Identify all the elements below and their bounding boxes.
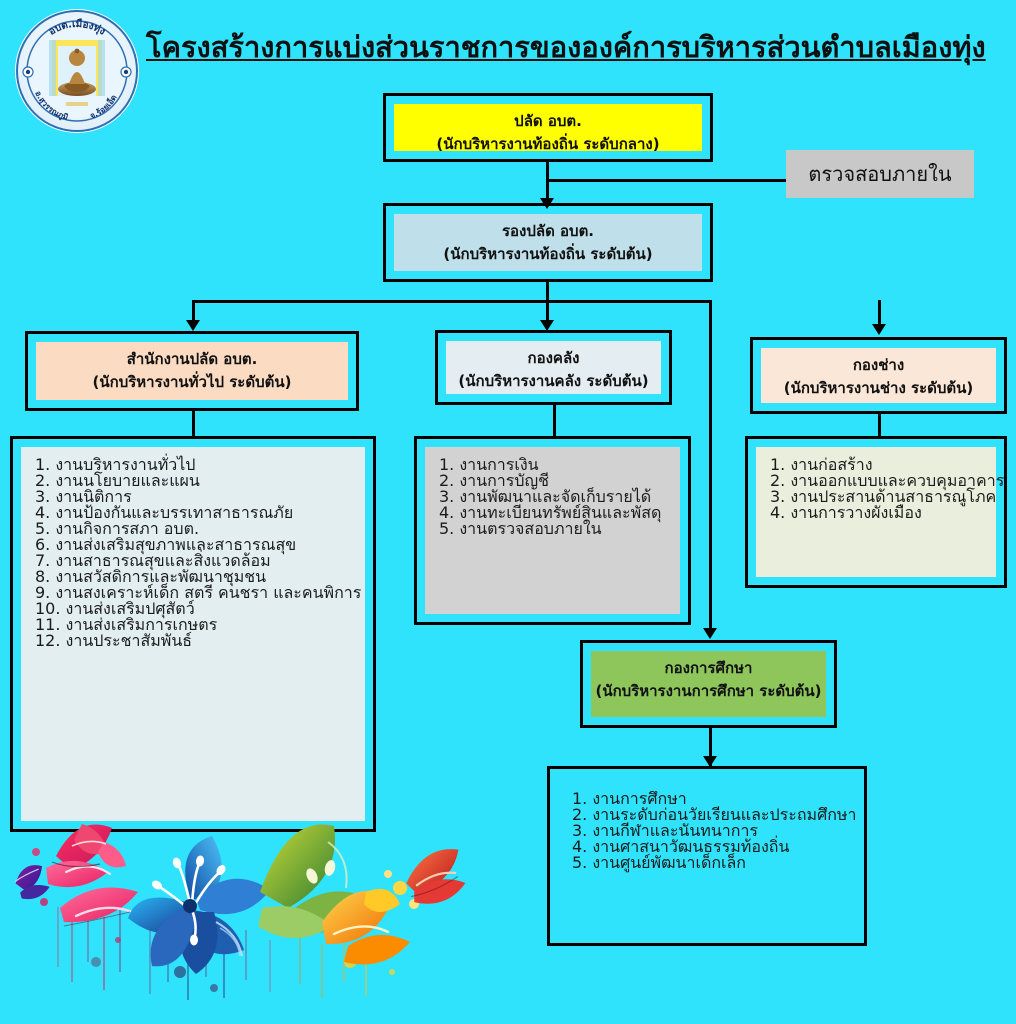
node-internal-audit-label: ตรวจสอบภายใน	[808, 158, 951, 190]
node-education-fill: กองการศึกษา (นักบริหารงานการศึกษา ระดับต…	[591, 651, 826, 717]
node-office-fill: สำนักงานปลัด อบต. (นักบริหารงานทั่วไป ระ…	[36, 342, 348, 400]
connector-bus	[192, 300, 712, 303]
arrow-bus-to-works	[872, 324, 886, 335]
list-office-inner: 1. งานบริหารงานทั่วไป 2. งานนโยบายและแผน…	[21, 447, 365, 821]
node-chief-title: ปลัด อบต.	[514, 110, 582, 133]
node-office-title: สำนักงานปลัด อบต.	[127, 348, 258, 371]
arrow-bus-to-education	[703, 628, 717, 639]
list-item: 12. งานประชาสัมพันธ์	[35, 633, 359, 649]
node-deputy-chief[interactable]: รองปลัด อบต. (นักบริหารงานท้องถิ่น ระดับ…	[383, 203, 713, 282]
list-works-tasks: 1. งานก่อสร้าง 2. งานออกแบบและควบคุมอาคา…	[745, 436, 1007, 588]
node-education-title: กองการศึกษา	[665, 657, 753, 680]
connector-office-to-list	[192, 410, 195, 438]
list-education-inner: 1. งานการศึกษา 2. งานระดับก่อนวัยเรียนแล…	[558, 777, 856, 935]
list-item: 5. งานตรวจสอบภายใน	[439, 521, 674, 537]
list-treasury-inner: 1. งานการเงิน 2. งานการบัญชี 3. งานพัฒนา…	[425, 447, 680, 614]
list-item: 5. งานศูนย์พัฒนาเด็กเล็ก	[572, 855, 850, 871]
org-chart-canvas: อบต.เมืองทุ่ง อ.สุวรรณภูมิ จ.ร้อยเอ็ด โค…	[0, 0, 1016, 1024]
node-treasury-subtitle: (นักบริหารงานคลัง ระดับต้น)	[458, 370, 648, 393]
arrow-bus-to-office	[186, 320, 200, 331]
node-deputy-title: รองปลัด อบต.	[502, 220, 594, 243]
node-treasury-fill: กองคลัง (นักบริหารงานคลัง ระดับต้น)	[446, 341, 661, 394]
node-treasury-division[interactable]: กองคลัง (นักบริหารงานคลัง ระดับต้น)	[435, 330, 672, 405]
node-education-division[interactable]: กองการศึกษา (นักบริหารงานการศึกษา ระดับต…	[580, 640, 837, 728]
list-item: 4. งานการวางผังเมือง	[770, 505, 990, 521]
connector-chief-to-audit	[546, 179, 786, 182]
node-public-works-division[interactable]: กองช่าง (นักบริหารงานช่าง ระดับต้น)	[750, 337, 1007, 414]
connector-bus-to-education	[709, 300, 712, 635]
node-education-subtitle: (นักบริหารงานการศึกษา ระดับต้น)	[595, 680, 821, 703]
node-deputy-fill: รองปลัด อบต. (นักบริหารงานท้องถิ่น ระดับ…	[394, 214, 702, 271]
node-chief-subtitle: (นักบริหารงานท้องถิ่น ระดับกลาง)	[436, 133, 659, 156]
node-office-of-clerk[interactable]: สำนักงานปลัด อบต. (นักบริหารงานทั่วไป ระ…	[25, 331, 359, 411]
node-internal-audit[interactable]: ตรวจสอบภายใน	[786, 150, 974, 198]
node-treasury-title: กองคลัง	[528, 347, 580, 370]
list-education-tasks: 1. งานการศึกษา 2. งานระดับก่อนวัยเรียนแล…	[547, 766, 867, 946]
page-title: โครงสร้างการแบ่งส่วนราชการขององค์การบริห…	[146, 24, 976, 70]
node-works-fill: กองช่าง (นักบริหารงานช่าง ระดับต้น)	[761, 348, 996, 403]
node-deputy-subtitle: (นักบริหารงานท้องถิ่น ระดับต้น)	[443, 243, 652, 266]
list-works-inner: 1. งานก่อสร้าง 2. งานออกแบบและควบคุมอาคา…	[756, 447, 996, 577]
node-office-subtitle: (นักบริหารงานทั่วไป ระดับต้น)	[93, 371, 292, 394]
list-office-tasks: 1. งานบริหารงานทั่วไป 2. งานนโยบายและแผน…	[10, 436, 376, 832]
floral-decoration-graphic	[0, 812, 470, 1002]
node-chief-executive[interactable]: ปลัด อบต. (นักบริหารงานท้องถิ่น ระดับกลา…	[383, 93, 713, 162]
node-works-title: กองช่าง	[853, 354, 904, 377]
connector-works-to-list	[878, 412, 881, 438]
node-chief-fill: ปลัด อบต. (นักบริหารงานท้องถิ่น ระดับกลา…	[394, 104, 702, 151]
connector-deputy-stem	[546, 280, 549, 302]
municipality-seal-logo: อบต.เมืองทุ่ง อ.สุวรรณภูมิ จ.ร้อยเอ็ด	[12, 6, 142, 136]
connector-treasury-to-list	[553, 404, 556, 438]
node-works-subtitle: (นักบริหารงานช่าง ระดับต้น)	[784, 377, 974, 400]
list-treasury-tasks: 1. งานการเงิน 2. งานการบัญชี 3. งานพัฒนา…	[414, 436, 691, 625]
